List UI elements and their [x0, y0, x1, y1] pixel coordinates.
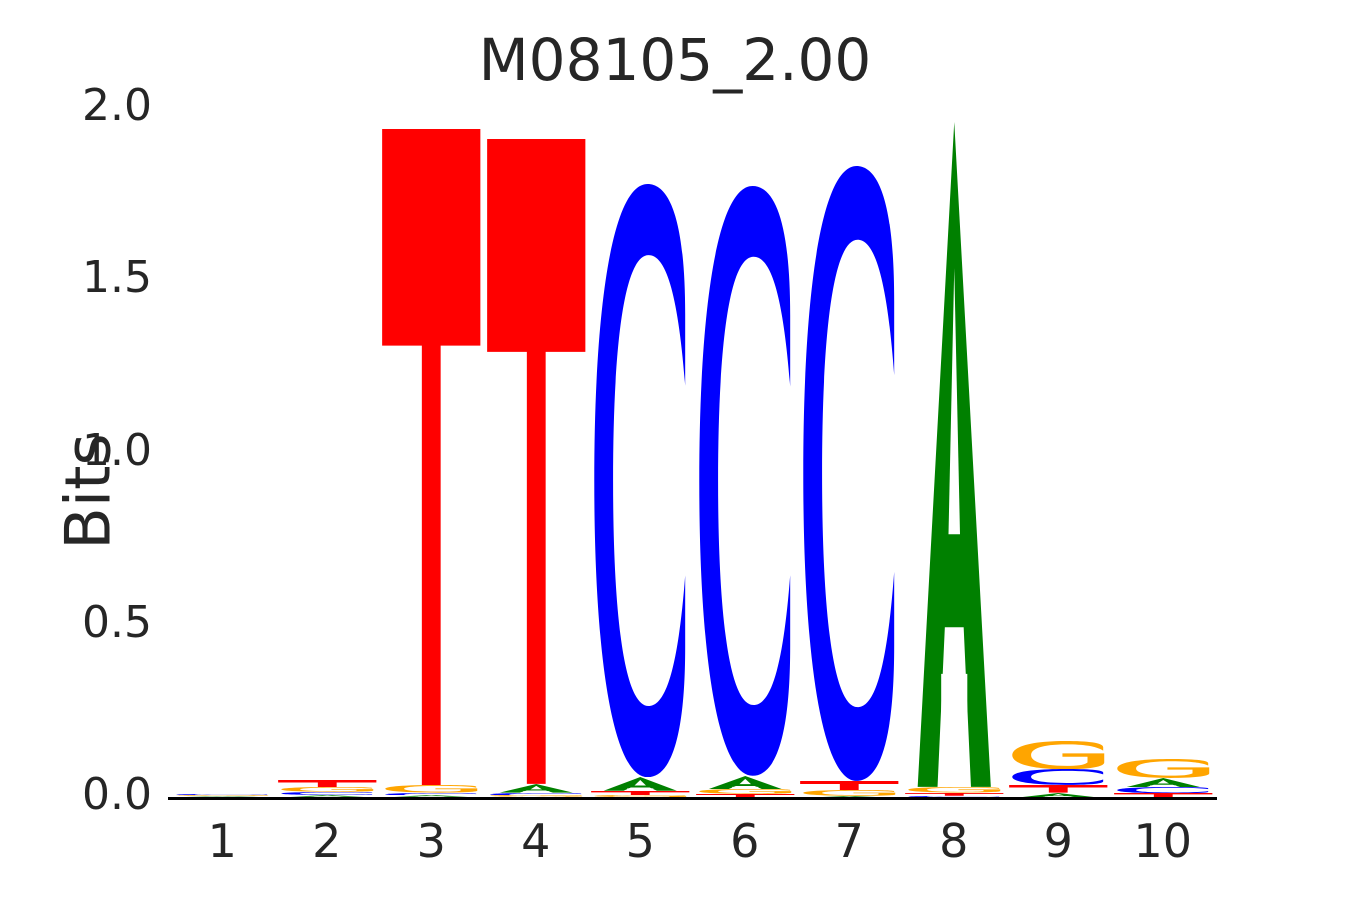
- logo-letter-a-pos5: [588, 777, 693, 791]
- logo-letter-a-pos10: [1111, 778, 1216, 787]
- logo-letter-a-pos8: [902, 122, 1007, 787]
- logo-letter-t-pos7: [797, 781, 902, 790]
- y-axis-ticks: 0.00.51.01.52.0: [0, 0, 152, 900]
- logo-letter-t-pos9: [1006, 785, 1111, 793]
- logo-column-4[interactable]: [484, 108, 589, 798]
- x-tick-label-7: 7: [789, 818, 909, 864]
- logo-column-5[interactable]: [588, 108, 693, 798]
- x-tick-label-8: 8: [894, 818, 1014, 864]
- x-tick-label-10: 10: [1103, 818, 1223, 864]
- logo-letter-c-pos9: [1006, 769, 1111, 785]
- sequence-logo-figure: M08105_2.00 Bits 0.00.51.01.52.0 1234567…: [0, 0, 1350, 900]
- x-tick-label-4: 4: [476, 818, 596, 864]
- logo-letter-g-pos3: [379, 785, 484, 793]
- logo-plot-area: [170, 108, 1215, 798]
- logo-letter-c-pos7: [797, 166, 902, 781]
- logo-letter-t-pos4: [484, 139, 589, 784]
- logo-column-6[interactable]: [693, 108, 798, 798]
- logo-letter-a-pos4: [484, 784, 589, 793]
- x-tick-label-6: 6: [685, 818, 805, 864]
- x-tick-label-2: 2: [267, 818, 387, 864]
- logo-letter-c-pos5: [588, 184, 693, 777]
- logo-column-9[interactable]: [1006, 108, 1111, 798]
- page-title: M08105_2.00: [0, 26, 1350, 94]
- y-tick-label: 2.0: [12, 84, 152, 128]
- logo-column-3[interactable]: [379, 108, 484, 798]
- x-tick-label-1: 1: [162, 818, 282, 864]
- logo-column-7[interactable]: [797, 108, 902, 798]
- logo-letter-c-pos6: [693, 186, 798, 776]
- logo-column-2[interactable]: [275, 108, 380, 798]
- logo-letter-t-pos2: [275, 780, 380, 788]
- logo-column-10[interactable]: [1111, 108, 1216, 798]
- x-tick-label-9: 9: [998, 818, 1118, 864]
- y-tick-label: 1.0: [12, 429, 152, 473]
- logo-letter-g-pos10: [1111, 759, 1216, 778]
- y-tick-label: 0.5: [12, 601, 152, 645]
- logo-column-8[interactable]: [902, 108, 1007, 798]
- logo-column-1[interactable]: [170, 108, 275, 798]
- logo-letter-g-pos9: [1006, 741, 1111, 769]
- logo-letter-a-pos6: [693, 776, 798, 789]
- y-tick-label: 1.5: [12, 256, 152, 300]
- x-tick-label-3: 3: [371, 818, 491, 864]
- x-axis-line: [168, 797, 1217, 800]
- logo-letter-t-pos3: [379, 129, 484, 785]
- y-tick-label: 0.0: [12, 773, 152, 817]
- x-tick-label-5: 5: [580, 818, 700, 864]
